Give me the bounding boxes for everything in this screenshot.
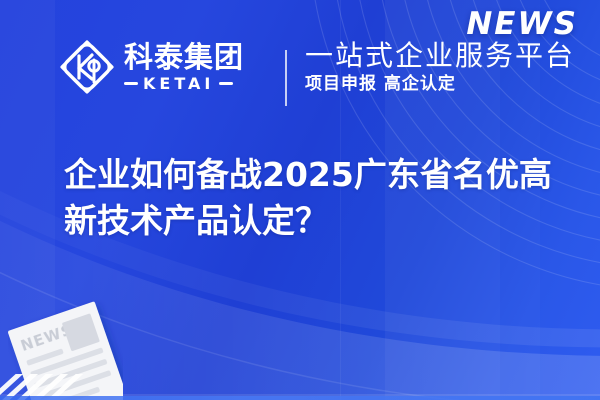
brand-logo[interactable]: 科泰集团 KETAI: [58, 38, 244, 96]
brand-tagline: 一站式企业服务平台 项目申报 高企认定: [305, 40, 575, 95]
header-divider: [285, 50, 287, 106]
news-banner: NEWS 科泰集团: [0, 0, 600, 400]
banner-header: 科泰集团 KETAI 一站式企业服务平台 项目申报 高企认定: [0, 36, 600, 114]
brand-name-en: KETAI: [143, 76, 214, 92]
wordmark-dash-left: [124, 82, 138, 85]
tagline-main: 一站式企业服务平台: [305, 40, 575, 72]
tagline-sub: 项目申报 高企认定: [305, 75, 575, 95]
ketai-diamond-k-logo-icon: [58, 38, 116, 96]
page-title: 企业如何备战2025广东省名优高新技术产品认定？: [64, 152, 576, 243]
brand-wordmark: 科泰集团 KETAI: [124, 43, 244, 92]
brand-name-en-row: KETAI: [124, 76, 244, 92]
bottom-strip: [0, 396, 600, 400]
newspaper-icon: NEWS: [8, 300, 123, 400]
wordmark-dash-right: [219, 82, 233, 85]
brand-name-cn: 科泰集团: [124, 43, 244, 72]
